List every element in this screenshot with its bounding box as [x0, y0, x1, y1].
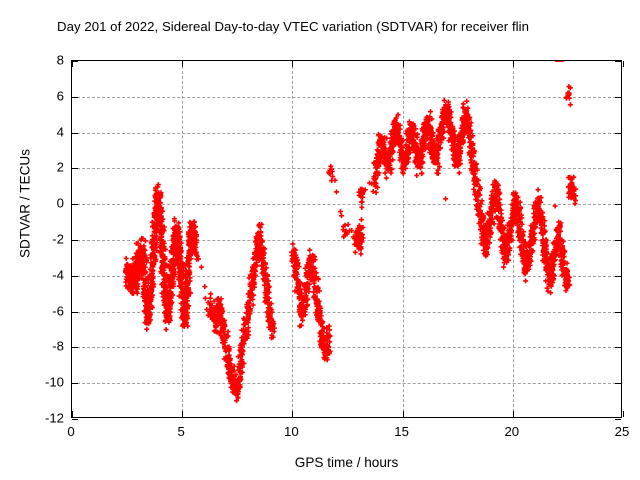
x-axis-tick [513, 61, 514, 67]
scatter-series-sdtvar [72, 61, 621, 417]
x-axis-tick [182, 61, 183, 67]
y-axis-tick [72, 168, 78, 169]
x-axis-tick [623, 411, 624, 417]
y-axis-tick [615, 383, 621, 384]
x-axis-tick [403, 411, 404, 417]
y-axis-tick-label: 4 [57, 124, 64, 139]
y-axis-tick [615, 204, 621, 205]
y-axis-tick-label: 0 [57, 196, 64, 211]
x-axis-tick [513, 411, 514, 417]
x-axis-tick [72, 411, 73, 417]
y-axis-tick [615, 240, 621, 241]
x-axis-title: GPS time / hours [71, 455, 622, 470]
y-axis-tick [615, 312, 621, 313]
y-axis-tick-label: -6 [52, 303, 64, 318]
plot-area [72, 61, 621, 417]
y-axis-tick [72, 347, 78, 348]
x-axis-tick [403, 61, 404, 67]
y-axis-tick [72, 419, 78, 420]
y-axis-tick [615, 419, 621, 420]
y-axis-tick [615, 133, 621, 134]
y-axis-tick-label: -10 [45, 375, 64, 390]
y-axis-tick [72, 240, 78, 241]
y-axis-tick-label: -4 [52, 267, 64, 282]
x-axis-tick-label: 10 [284, 424, 299, 439]
y-axis-tick [615, 347, 621, 348]
y-axis-tick [615, 276, 621, 277]
x-axis-tick [292, 61, 293, 67]
y-axis-tick [72, 204, 78, 205]
y-axis-tick-label: 2 [57, 160, 64, 175]
x-axis-tick [623, 61, 624, 67]
y-axis-tick [615, 61, 621, 62]
y-axis-tick [615, 168, 621, 169]
y-axis-tick [72, 97, 78, 98]
chart-title: Day 201 of 2022, Sidereal Day-to-day VTE… [57, 19, 529, 34]
y-axis-tick [615, 97, 621, 98]
data-points-layer [72, 61, 621, 417]
x-axis-tick-labels: 0510152025 [71, 424, 622, 444]
y-axis-tick-label: -12 [45, 411, 64, 426]
x-axis-tick-label: 0 [67, 424, 74, 439]
y-axis-tick [72, 312, 78, 313]
y-axis-tick [72, 276, 78, 277]
x-axis-tick-label: 5 [178, 424, 185, 439]
y-axis-tick-label: 8 [57, 53, 64, 68]
x-axis-tick-label: 15 [394, 424, 409, 439]
y-axis-tick-label: -2 [52, 232, 64, 247]
y-axis-tick [72, 383, 78, 384]
x-axis-tick [182, 411, 183, 417]
x-axis-tick-label: 25 [615, 424, 630, 439]
y-axis-tick-label: -8 [52, 339, 64, 354]
x-axis-tick-label: 20 [504, 424, 519, 439]
x-axis-tick [72, 61, 73, 67]
y-axis-tick [72, 133, 78, 134]
y-axis-title: SDTVAR / TECUs [18, 124, 33, 284]
chart-canvas: Day 201 of 2022, Sidereal Day-to-day VTE… [0, 0, 640, 480]
y-axis-tick-label: 6 [57, 88, 64, 103]
x-axis-tick [292, 411, 293, 417]
plot-frame [71, 60, 622, 418]
